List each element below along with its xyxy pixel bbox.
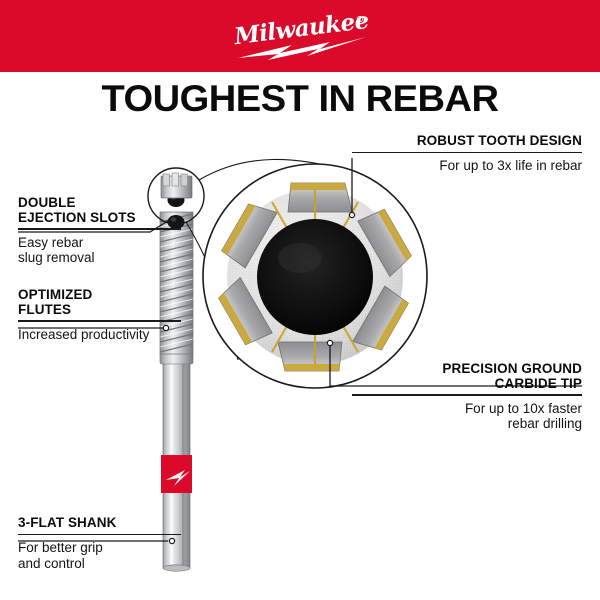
hollow-core-bore (257, 219, 373, 335)
callout-rule (352, 152, 582, 154)
shank-red-band (161, 455, 192, 493)
callout-robust-tooth-design: ROBUST TOOTH DESIGN For up to 3x life in… (352, 134, 582, 174)
callout-title: OPTIMIZED FLUTES (18, 288, 181, 317)
bit-tip-teeth (163, 173, 188, 186)
infographic-page: Milwaukee R TOUGHEST IN REBAR (0, 0, 600, 600)
callout-subtitle: For up to 3x life in rebar (352, 158, 582, 174)
callout-title: 3-FLAT SHANK (18, 516, 181, 531)
callout-precision-ground-carbide-tip: PRECISION GROUND CARBIDE TIP For up to 1… (352, 362, 582, 432)
callout-subtitle: For better grip and control (18, 540, 181, 571)
callout-double-ejection-slots: DOUBLE EJECTION SLOTS Easy rebar slug re… (18, 196, 181, 266)
callout-title: PRECISION GROUND CARBIDE TIP (352, 362, 582, 391)
callout-rule (18, 320, 181, 322)
callout-title: ROBUST TOOTH DESIGN (352, 134, 582, 149)
callout-three-flat-shank: 3-FLAT SHANK For better grip and control (18, 516, 181, 571)
callout-subtitle: Increased productivity (18, 327, 181, 343)
callout-rule (352, 394, 582, 396)
callout-rule (18, 228, 181, 230)
callout-subtitle: Easy rebar slug removal (18, 235, 181, 266)
callout-rule (18, 534, 181, 536)
callout-title: DOUBLE EJECTION SLOTS (18, 196, 181, 225)
tip-detail-view (203, 164, 427, 388)
callout-subtitle: For up to 10x faster rebar drilling (352, 401, 582, 432)
callout-optimized-flutes: OPTIMIZED FLUTES Increased productivity (18, 288, 181, 342)
